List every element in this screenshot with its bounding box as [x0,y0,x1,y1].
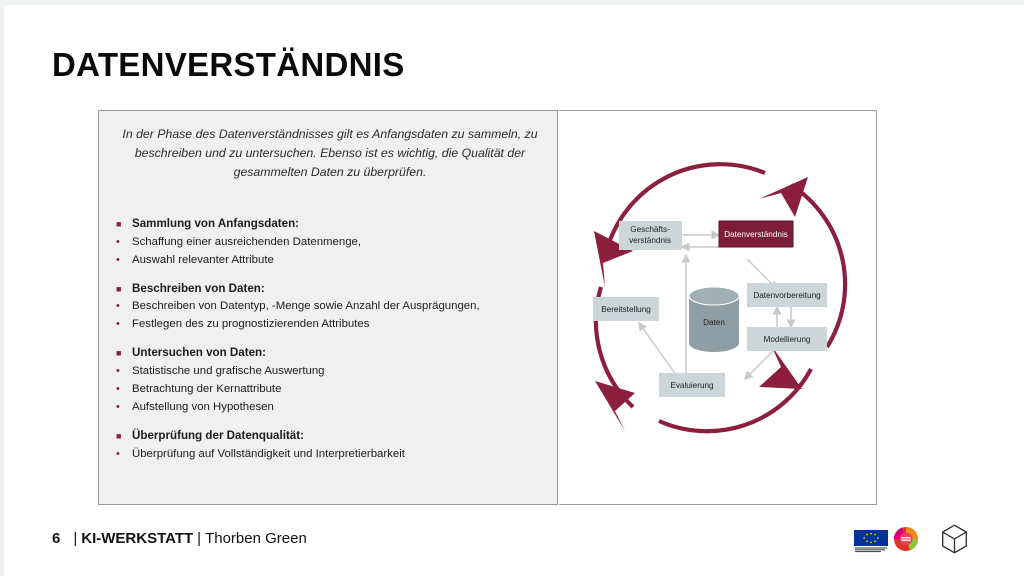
bullet-item-row: • Schaffung einer ausreichenden Datenmen… [113,234,553,251]
bullet-item-row: • Aufstellung von Hypothesen [113,399,553,416]
footer-separator-1: | [73,530,77,547]
bullet-item-row: • Überprüfung auf Vollständigkeit und In… [113,446,553,463]
footer-separator-2: | [197,530,201,547]
square-bullet-icon: ■ [113,345,132,362]
bullet-heading-row: ■ Sammlung von Anfangsdaten: [113,216,553,233]
node-label-line1: Geschäfts- [630,225,670,234]
bullet-item-row: • Statistische und grafische Auswertung [113,363,553,380]
intro-paragraph: In der Phase des Datenverständnisses gil… [121,125,539,182]
dot-bullet-icon: • [113,363,132,380]
node-label-line1: Evaluierung [670,381,714,390]
bullet-heading: Beschreiben von Daten: [132,281,265,297]
node-label-line1: Datenverständnis [724,230,788,239]
bullet-item-row: • Auswahl relevanter Attribute [113,252,553,269]
dot-bullet-icon: • [113,446,132,463]
bullet-item-row: • Beschreiben von Datentyp, -Menge sowie… [113,298,553,315]
arrowhead-bottom-right [759,345,802,389]
cylinder-label: Daten [703,318,725,327]
arrowhead-top-right [759,177,808,217]
page-number: 6 [52,530,60,547]
node-datenvorbereitung[interactable]: Datenvorbereitung [747,283,827,307]
bullet-list: ■ Sammlung von Anfangsdaten: • Schaffung… [113,216,553,475]
node-label-line1: Datenvorbereitung [753,291,821,300]
bullet-item: Aufstellung von Hypothesen [132,399,274,415]
node-geschaeftsverstaendnis[interactable]: Geschäfts- verständnis [619,221,682,250]
node-evaluierung[interactable]: Evaluierung [659,373,725,397]
dot-bullet-icon: • [113,252,132,269]
square-bullet-icon: ■ [113,428,132,445]
bullet-heading-row: ■ Untersuchen von Daten: [113,345,553,362]
bullet-heading: Sammlung von Anfangsdaten: [132,216,299,232]
node-label-line1: Modellierung [764,335,811,344]
node-label-line2: verständnis [629,236,671,245]
bullet-item: Statistische und grafische Auswertung [132,363,324,379]
node-datenverstaendnis[interactable]: Datenverständnis [719,221,793,247]
bullet-item: Auswahl relevanter Attribute [132,252,274,268]
dot-bullet-icon: • [113,298,132,315]
dot-bullet-icon: • [113,399,132,416]
bullet-item: Beschreiben von Datentyp, -Menge sowie A… [132,298,480,314]
slide-canvas: DATENVERSTÄNDNIS In der Phase des Datenv… [0,0,1024,576]
data-cylinder-icon: Daten [689,287,739,352]
bullet-group: ■ Beschreiben von Daten: • Beschreiben v… [113,281,553,334]
content-panel-right: Daten Geschäfts- verständnis Datenverstä… [559,110,877,505]
bullet-item-row: • Betrachtung der Kernattribute [113,381,553,398]
bullet-item: Festlegen des zu prognostizierenden Attr… [132,316,369,332]
footer-bar: 6 | KI-WERKSTATT | Thorben Green [52,530,307,547]
bullet-item: Betrachtung der Kernattribute [132,381,281,397]
bullet-heading: Überprüfung der Datenqualität: [132,428,304,444]
footer-brand: KI-WERKSTATT [81,530,193,547]
dot-bullet-icon: • [113,316,132,333]
bullet-group: ■ Sammlung von Anfangsdaten: • Schaffung… [113,216,553,269]
bullet-group: ■ Untersuchen von Daten: • Statistische … [113,345,553,416]
bullet-item: Überprüfung auf Vollständigkeit und Inte… [132,446,405,462]
bullet-item-row: • Festlegen des zu prognostizierenden At… [113,316,553,333]
funding-program-icon [893,526,919,557]
footer-author: Thorben Green [205,530,307,547]
node-bereitstellung[interactable]: Bereitstellung [593,297,659,321]
bullet-item: Schaffung einer ausreichenden Datenmenge… [132,234,361,250]
content-panel-left: In der Phase des Datenverständnisses gil… [98,110,558,505]
node-modellierung[interactable]: Modellierung [747,327,827,351]
bullet-heading-row: ■ Überprüfung der Datenqualität: [113,428,553,445]
page-title: DATENVERSTÄNDNIS [52,46,405,84]
hexagon-icon [941,524,968,559]
dot-bullet-icon: • [113,234,132,251]
logo-pair [854,526,919,557]
bullet-group: ■ Überprüfung der Datenqualität: • Überp… [113,428,553,463]
bullet-heading: Untersuchen von Daten: [132,345,266,361]
square-bullet-icon: ■ [113,216,132,233]
dot-bullet-icon: • [113,381,132,398]
eu-flag-icon [854,530,888,553]
square-bullet-icon: ■ [113,281,132,298]
crisp-dm-diagram: Daten Geschäfts- verständnis Datenverstä… [559,111,877,505]
node-label-line1: Bereitstellung [601,305,651,314]
bullet-heading-row: ■ Beschreiben von Daten: [113,281,553,298]
footer-logos [854,524,968,559]
